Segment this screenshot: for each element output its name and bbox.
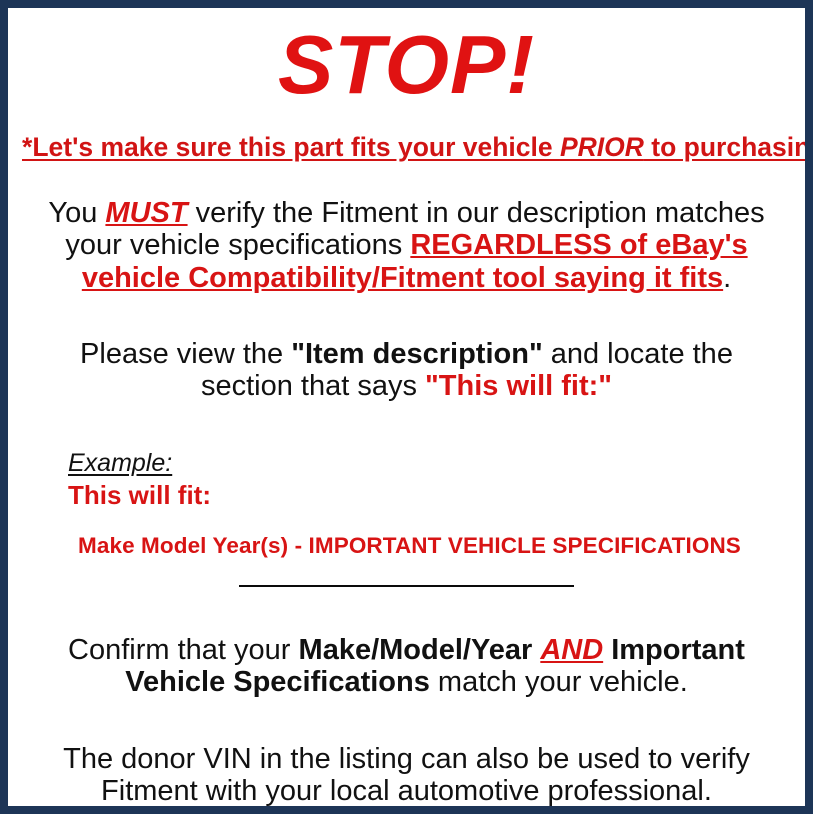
example-spec-line: Make Model Year(s) - IMPORTANT VEHICLE S…	[68, 533, 791, 559]
view-seg1: Please view the	[80, 338, 291, 370]
emphasis-and: AND	[540, 634, 603, 666]
item-description-label: "Item description"	[291, 338, 542, 370]
example-block: Example: This will fit: Make Model Year(…	[22, 449, 791, 559]
page-title: STOP!	[22, 8, 791, 108]
confirm-seg2: match your vehicle.	[430, 666, 688, 698]
confirm-seg1: Confirm that your	[68, 634, 298, 666]
example-label: Example:	[68, 449, 172, 478]
subtitle-emphasis-prior: PRIOR	[560, 132, 644, 162]
must-verify-paragraph: You MUST verify the Fitment in our descr…	[22, 197, 791, 294]
notice-content: STOP! *Let's make sure this part fits yo…	[8, 8, 805, 806]
subtitle-post-text: to purchasing*	[644, 132, 813, 162]
confirm-paragraph: Confirm that your Make/Model/Year AND Im…	[22, 634, 791, 699]
must-seg3: .	[723, 262, 731, 294]
subtitle-banner: *Let's make sure this part fits your veh…	[22, 132, 791, 163]
this-will-fit-quote: "This will fit:"	[425, 370, 612, 402]
example-fit-header: This will fit:	[68, 480, 791, 511]
section-divider-wrapper	[22, 585, 791, 599]
emphasis-must: MUST	[105, 197, 187, 229]
bold-make-model-year: Make/Model/Year	[299, 634, 533, 666]
fitment-notice-card: STOP! *Let's make sure this part fits yo…	[0, 0, 813, 814]
must-seg1: You	[48, 197, 105, 229]
view-description-paragraph: Please view the "Item description" and l…	[22, 338, 791, 403]
vin-paragraph: The donor VIN in the listing can also be…	[22, 743, 791, 808]
subtitle-pre-text: *Let's make sure this part fits your veh…	[22, 132, 560, 162]
section-divider	[239, 585, 574, 587]
